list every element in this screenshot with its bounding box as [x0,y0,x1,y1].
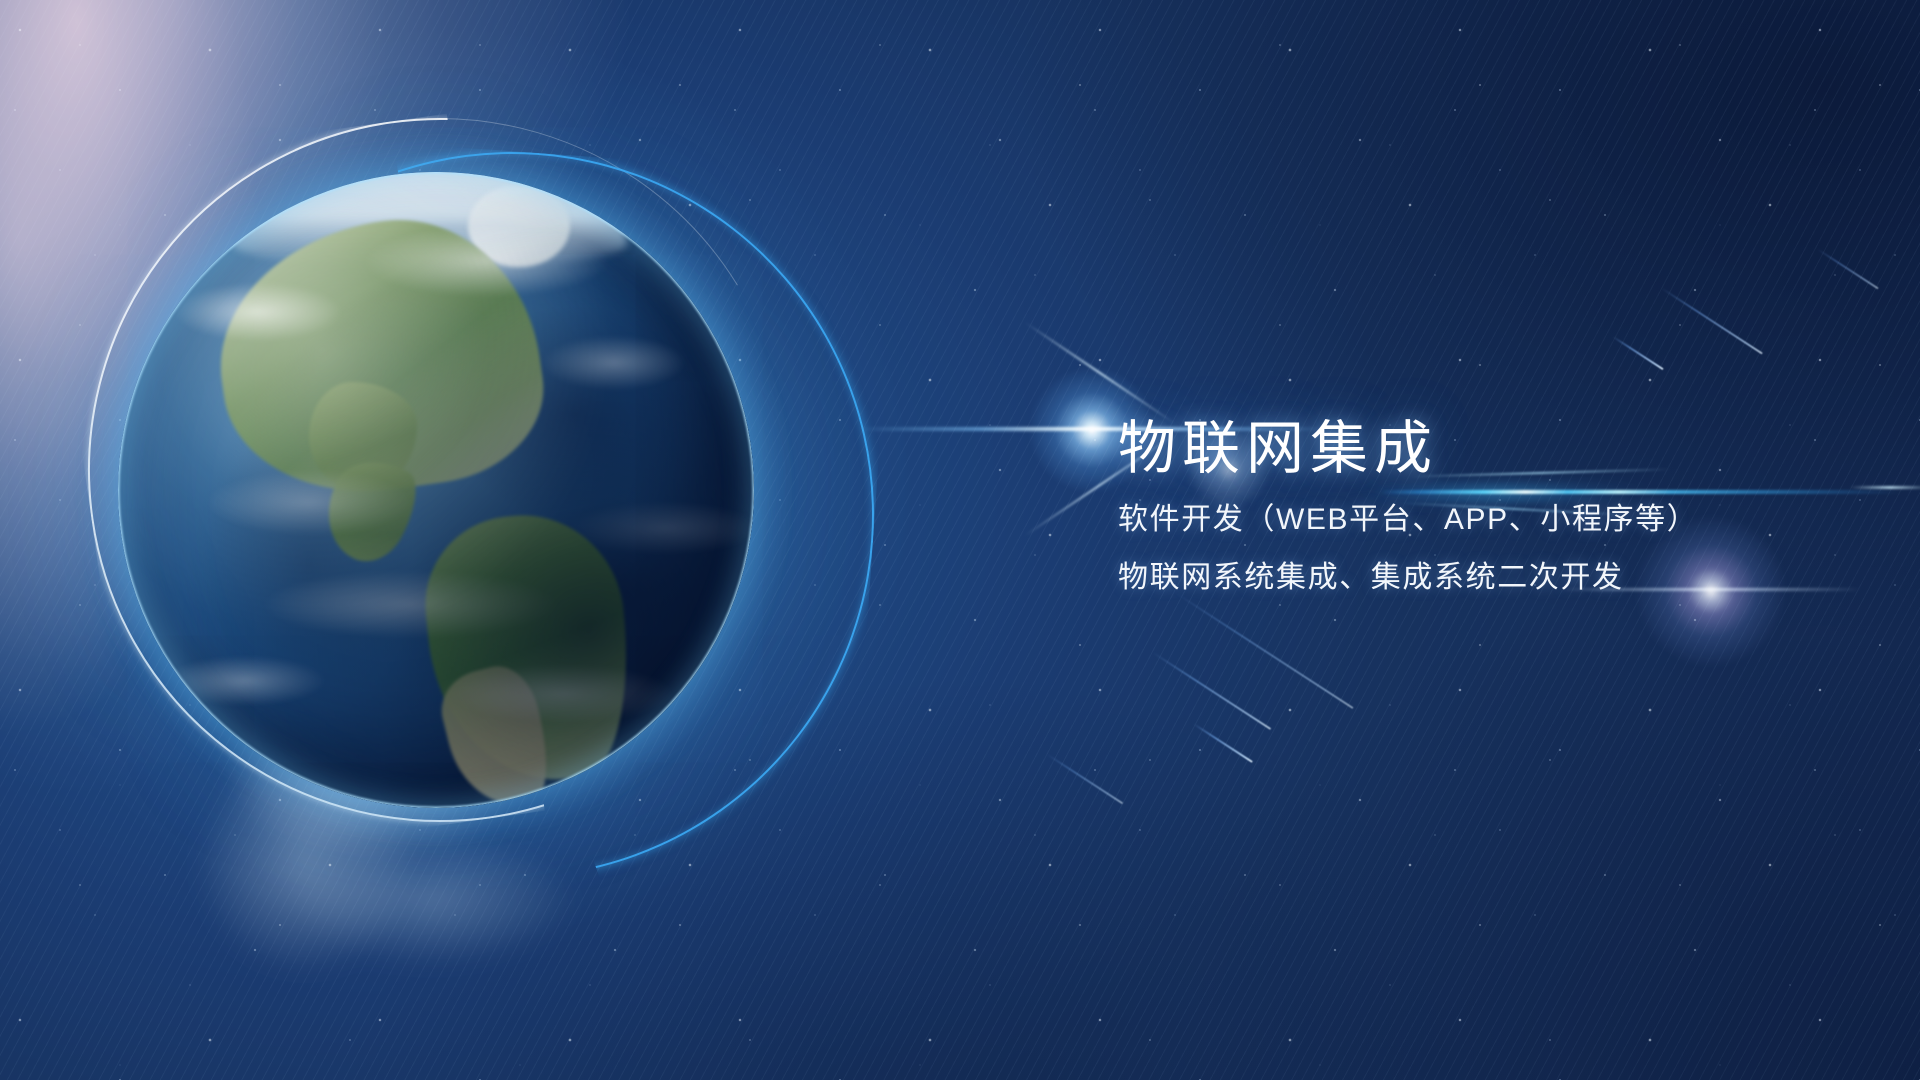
shooting-star-icon [1661,287,1763,354]
subtitle-line-2: 物联网系统集成、集成系统二次开发 [1118,563,1878,593]
shooting-star-icon [1176,593,1353,709]
shooting-star-icon [1612,336,1663,370]
globe-sphere [118,172,754,808]
shooting-star-icon [1193,723,1253,763]
page-title: 物联网集成 [1118,418,1878,479]
subtitle-list: 软件开发（WEB平台、APP、小程序等） 物联网系统集成、集成系统二次开发 [1118,505,1878,593]
shooting-star-icon [1817,249,1878,290]
banner-stage: 物联网集成 软件开发（WEB平台、APP、小程序等） 物联网系统集成、集成系统二… [0,0,1920,1080]
lens-flare-diagonal-ray-up [1025,322,1175,424]
earth-globe [118,172,754,808]
globe-rim-light [118,172,754,808]
subtitle-line-1: 软件开发（WEB平台、APP、小程序等） [1118,505,1878,535]
shooting-star-icon [1047,754,1124,805]
shooting-star-icon [1153,652,1272,730]
banner-copy: 物联网集成 软件开发（WEB平台、APP、小程序等） 物联网系统集成、集成系统二… [1118,418,1878,593]
